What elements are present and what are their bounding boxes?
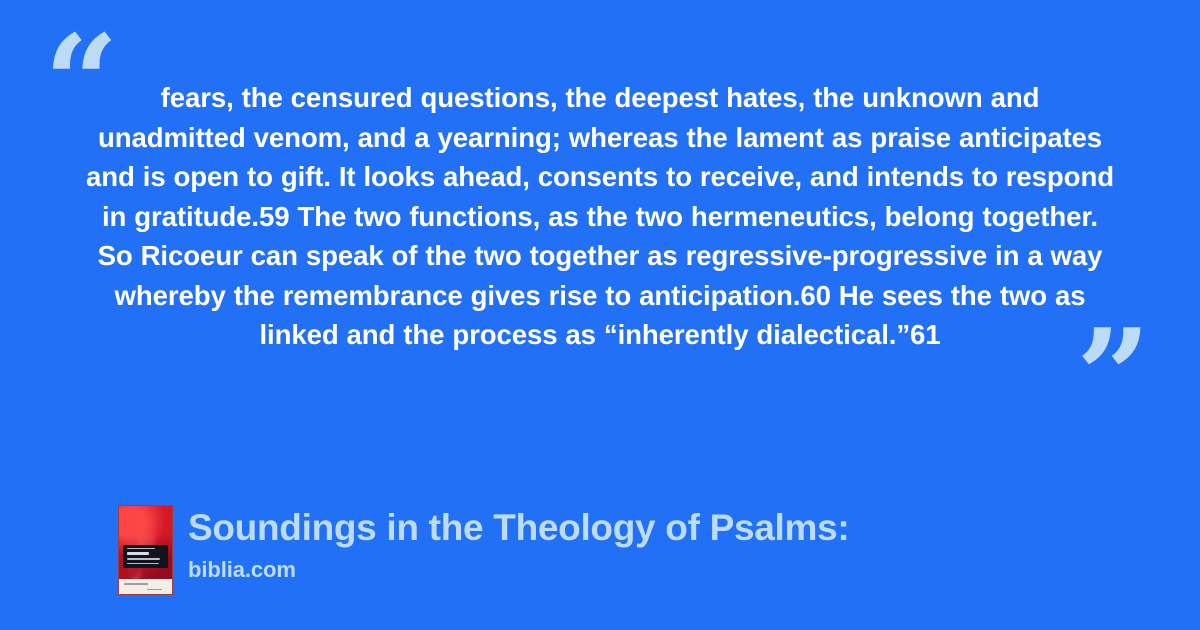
quote-text: fears, the censured questions, the deepe… [86, 78, 1114, 355]
source-domain[interactable]: biblia.com [188, 556, 849, 584]
footer-text-group: Soundings in the Theology of Psalms: bib… [188, 505, 849, 584]
closing-quote-icon: ” [1076, 312, 1151, 442]
cover-title-line [127, 563, 159, 565]
cover-title-line [127, 552, 149, 555]
quote-share-card: “ fears, the censured questions, the dee… [0, 0, 1200, 630]
cover-footer-line [124, 583, 148, 585]
book-cover-thumbnail[interactable] [118, 505, 173, 595]
footer-attribution[interactable]: Soundings in the Theology of Psalms: bib… [118, 505, 849, 595]
cover-title-line [127, 558, 160, 560]
book-cover-title-band [123, 545, 168, 568]
book-cover-footer-strip [119, 579, 172, 594]
cover-footer-line [147, 589, 162, 591]
cover-title-line [127, 548, 155, 550]
quote-block: fears, the censured questions, the deepe… [86, 78, 1114, 355]
book-title[interactable]: Soundings in the Theology of Psalms: [188, 506, 849, 549]
